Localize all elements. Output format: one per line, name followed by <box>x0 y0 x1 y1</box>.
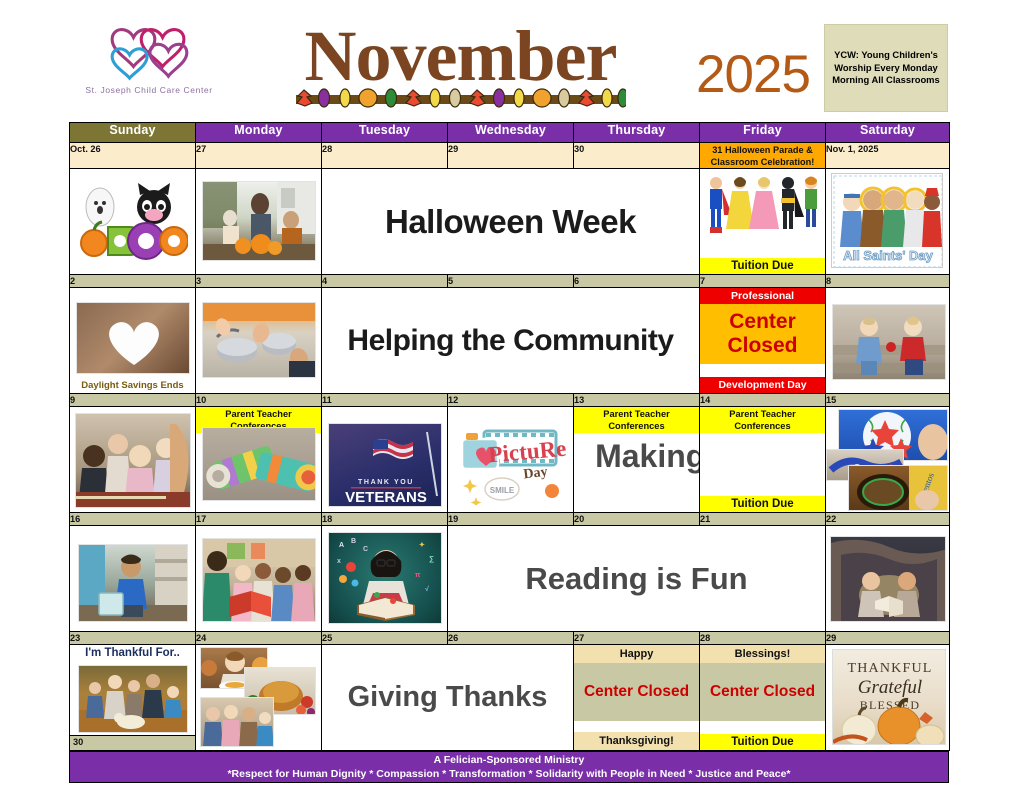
image-thankful-grateful-blessed: THANKFUL Grateful BLESSED <box>832 649 946 745</box>
date-nov-14: 14 <box>700 394 826 407</box>
svg-text:THANK YOU: THANK YOU <box>358 479 414 486</box>
week4-content-row: AB Cx ✦∑ π√ <box>70 526 950 632</box>
date-nov-23: 23 <box>70 632 196 645</box>
week3-content-row: Parent Teacher Conferences <box>70 407 950 513</box>
image-picture-day: PictuRe Day SMILE <box>454 417 568 505</box>
cell-nov-3[interactable] <box>196 288 322 394</box>
svg-text:Day: Day <box>523 465 549 483</box>
date-nov-7: 7 <box>700 275 826 288</box>
image-toddlers-apple <box>832 304 946 380</box>
week3-date-row: 9 10 11 12 13 14 15 <box>70 394 950 407</box>
date-nov-22: 22 <box>826 513 950 526</box>
halloween-parade-note: 31 Halloween Parade & Classroom Celebrat… <box>700 144 825 168</box>
tuition-due-nov-28: Tuition Due <box>700 734 825 750</box>
svg-text:x: x <box>337 558 341 565</box>
banner-helping-the-community: Helping the Community <box>322 288 699 393</box>
image-family-feast <box>200 697 274 747</box>
day-header-tuesday: Tuesday <box>322 123 448 143</box>
cell-helping-community-banner: Helping the Community <box>322 288 700 394</box>
week4-date-row: 16 17 18 19 20 21 22 <box>70 513 950 526</box>
happy-label: Happy <box>574 645 699 663</box>
day-header-saturday: Saturday <box>826 123 950 143</box>
date-oct-29: 29 <box>448 143 574 169</box>
year-title: 2025 <box>688 44 818 105</box>
cell-nov-17[interactable] <box>196 526 322 632</box>
development-day-label: Development Day <box>700 377 825 393</box>
cell-nov-9[interactable] <box>70 407 196 513</box>
day-header-wednesday: Wednesday <box>448 123 574 143</box>
date-nov-28: 28 <box>700 632 826 645</box>
svg-text:C: C <box>363 546 368 553</box>
cell-oct-26[interactable] <box>70 169 196 275</box>
date-nov-5: 5 <box>448 275 574 288</box>
autumn-leaves-decoration <box>296 86 626 110</box>
cell-nov-16[interactable] <box>70 526 196 632</box>
cell-nov-14[interactable]: Parent Teacher Conferences Tuition Due <box>700 407 826 513</box>
cell-nov-7[interactable]: Professional Center Closed Development D… <box>700 288 826 394</box>
tuition-due-nov-14: Tuition Due <box>700 496 825 512</box>
image-teacher-reading <box>202 538 316 622</box>
date-nov-30: 30 <box>70 735 195 750</box>
image-reading-under-blanket <box>830 536 946 622</box>
date-nov-13: 13 <box>574 394 700 407</box>
svg-text:Grateful: Grateful <box>858 677 922 698</box>
center-closed-nov-7: Center Closed <box>700 304 825 364</box>
date-nov-21: 21 <box>700 513 826 526</box>
date-nov-18: 18 <box>322 513 448 526</box>
image-all-saints-day: All Saints' Day <box>831 173 943 268</box>
week5-content-row: I'm Thankful For.. <box>70 645 950 751</box>
month-title: November <box>288 22 633 90</box>
cell-nov-2[interactable]: Daylight Savings Ends <box>70 288 196 394</box>
cell-nov-13[interactable]: Parent Teacher Conferences Making Music <box>574 407 700 513</box>
svg-text:A: A <box>339 542 344 549</box>
svg-text:π: π <box>415 572 421 579</box>
date-nov-1: Nov. 1, 2025 <box>826 143 950 169</box>
tuition-due-oct-31: Tuition Due <box>700 258 825 274</box>
cell-reading-is-fun-banner: Reading is Fun <box>448 526 826 632</box>
image-soup-kitchen <box>202 302 316 378</box>
image-boy-library <box>78 544 188 622</box>
svg-text:VETERANS: VETERANS <box>345 489 427 506</box>
cell-nov-23[interactable]: I'm Thankful For.. <box>70 645 196 751</box>
svg-text:SMILE: SMILE <box>490 486 515 495</box>
image-costumes <box>702 171 822 249</box>
cell-nov-29[interactable]: THANKFUL Grateful BLESSED <box>826 645 950 751</box>
image-veterans: THANK YOU VETERANS <box>328 423 442 507</box>
page-footer: A Felician-Sponsored Ministry *Respect f… <box>69 751 949 783</box>
image-children-guitar <box>75 413 191 508</box>
date-nov-2: 2 <box>70 275 196 288</box>
image-boo-clipart <box>78 179 188 264</box>
cell-oct-31[interactable]: Tuition Due <box>700 169 826 275</box>
date-nov-17: 17 <box>196 513 322 526</box>
organization-logo: St. Joseph Child Care Center <box>74 18 224 110</box>
date-nov-6: 6 <box>574 275 700 288</box>
svg-text:B: B <box>351 538 356 545</box>
calendar-grid: Sunday Monday Tuesday Wednesday Thursday… <box>69 122 950 751</box>
logo-caption: St. Joseph Child Care Center <box>85 85 212 95</box>
week5-date-row: 23 24 25 26 27 28 29 <box>70 632 950 645</box>
date-oct-26: Oct. 26 <box>70 143 196 169</box>
day-header-row: Sunday Monday Tuesday Wednesday Thursday… <box>70 123 950 143</box>
banner-halloween-week: Halloween Week <box>322 169 699 274</box>
date-nov-16: 16 <box>70 513 196 526</box>
day-header-sunday: Sunday <box>70 123 196 143</box>
page-header: St. Joseph Child Care Center November <box>0 0 1010 118</box>
cell-giving-thanks-banner: Giving Thanks <box>322 645 574 751</box>
hearts-logo-icon <box>90 18 208 82</box>
date-oct-31: 31 Halloween Parade & Classroom Celebrat… <box>700 143 826 169</box>
center-closed-nov-28: Center Closed <box>700 663 825 721</box>
svg-text:√: √ <box>425 585 429 593</box>
image-girl-magic-book: AB Cx ✦∑ π√ <box>328 532 442 624</box>
svg-text:∑: ∑ <box>429 556 434 563</box>
svg-text:THANKFUL: THANKFUL <box>847 661 932 676</box>
date-nov-19: 19 <box>448 513 574 526</box>
image-family-walk <box>78 665 188 733</box>
week2-date-row: 2 3 4 5 6 7 8 <box>70 275 950 288</box>
cell-oct-27[interactable] <box>196 169 322 275</box>
image-pumpkin-carving <box>202 181 316 261</box>
ycw-notice-text: YCW: Young Children's Worship Every Mond… <box>829 49 943 87</box>
professional-label: Professional <box>700 288 825 304</box>
date-nov-15: 15 <box>826 394 950 407</box>
cell-nov-27[interactable]: Happy Center Closed Thanksgiving! <box>574 645 700 751</box>
svg-text:✦: ✦ <box>419 541 425 549</box>
thanksgiving-label: Thanksgiving! <box>574 732 699 750</box>
date-nov-24: 24 <box>196 632 322 645</box>
date-nov-25: 25 <box>322 632 448 645</box>
date-nov-11: 11 <box>322 394 448 407</box>
week1-content-row: Halloween Week <box>70 169 950 275</box>
ptc-nov-14: Parent Teacher Conferences <box>700 407 825 433</box>
banner-making-music: Making Music <box>574 433 699 479</box>
cell-nov-22[interactable] <box>826 526 950 632</box>
date-oct-27: 27 <box>196 143 322 169</box>
cell-nov-1[interactable]: All Saints' Day <box>826 169 950 275</box>
calendar-page: St. Joseph Child Care Center November <box>0 0 1010 799</box>
cell-nov-8[interactable] <box>826 288 950 394</box>
ycw-notice-box: YCW: Young Children's Worship Every Mond… <box>824 24 948 112</box>
cell-nov-11[interactable]: THANK YOU VETERANS <box>322 407 448 513</box>
cell-halloween-week-banner: Halloween Week <box>322 169 700 275</box>
image-shakers <box>202 427 316 501</box>
date-nov-26: 26 <box>448 632 574 645</box>
thankful-for-label: I'm Thankful For.. <box>70 645 195 660</box>
day-header-monday: Monday <box>196 123 322 143</box>
date-oct-28: 28 <box>322 143 448 169</box>
week2-content-row: Daylight Savings Ends <box>70 288 950 394</box>
cell-nov-28[interactable]: Blessings! Center Closed Tuition Due <box>700 645 826 751</box>
week1-date-row: Oct. 26 27 28 29 30 31 Halloween Parade … <box>70 143 950 169</box>
image-tambourine-craft: Cuentos <box>848 465 948 511</box>
image-hands-heart <box>76 302 190 374</box>
daylight-savings-note: Daylight Savings Ends <box>70 380 195 391</box>
date-nov-3: 3 <box>196 275 322 288</box>
day-header-thursday: Thursday <box>574 123 700 143</box>
cell-nov-12[interactable]: PictuRe Day SMILE <box>448 407 574 513</box>
date-nov-27: 27 <box>574 632 700 645</box>
date-nov-10: 10 <box>196 394 322 407</box>
date-nov-20: 20 <box>574 513 700 526</box>
date-nov-29: 29 <box>826 632 950 645</box>
blessings-label: Blessings! <box>700 645 825 663</box>
svg-text:All Saints' Day: All Saints' Day <box>843 248 934 263</box>
date-nov-9: 9 <box>70 394 196 407</box>
date-nov-4: 4 <box>322 275 448 288</box>
cell-nov-24[interactable] <box>196 645 322 751</box>
day-header-friday: Friday <box>700 123 826 143</box>
ptc-nov-13: Parent Teacher Conferences <box>574 407 699 433</box>
month-title-block: November <box>288 22 633 112</box>
center-closed-nov-27: Center Closed <box>574 663 699 721</box>
banner-reading-is-fun: Reading is Fun <box>448 526 825 631</box>
banner-giving-thanks: Giving Thanks <box>322 645 573 750</box>
date-nov-12: 12 <box>448 394 574 407</box>
footer-line-2: *Respect for Human Dignity * Compassion … <box>227 768 790 780</box>
cell-nov-10[interactable]: Parent Teacher Conferences <box>196 407 322 513</box>
date-nov-8: 8 <box>826 275 950 288</box>
cell-nov-15[interactable]: Cuentos <box>826 407 950 513</box>
date-oct-30: 30 <box>574 143 700 169</box>
cell-nov-18[interactable]: AB Cx ✦∑ π√ <box>322 526 448 632</box>
footer-line-1: A Felician-Sponsored Ministry <box>434 754 585 766</box>
